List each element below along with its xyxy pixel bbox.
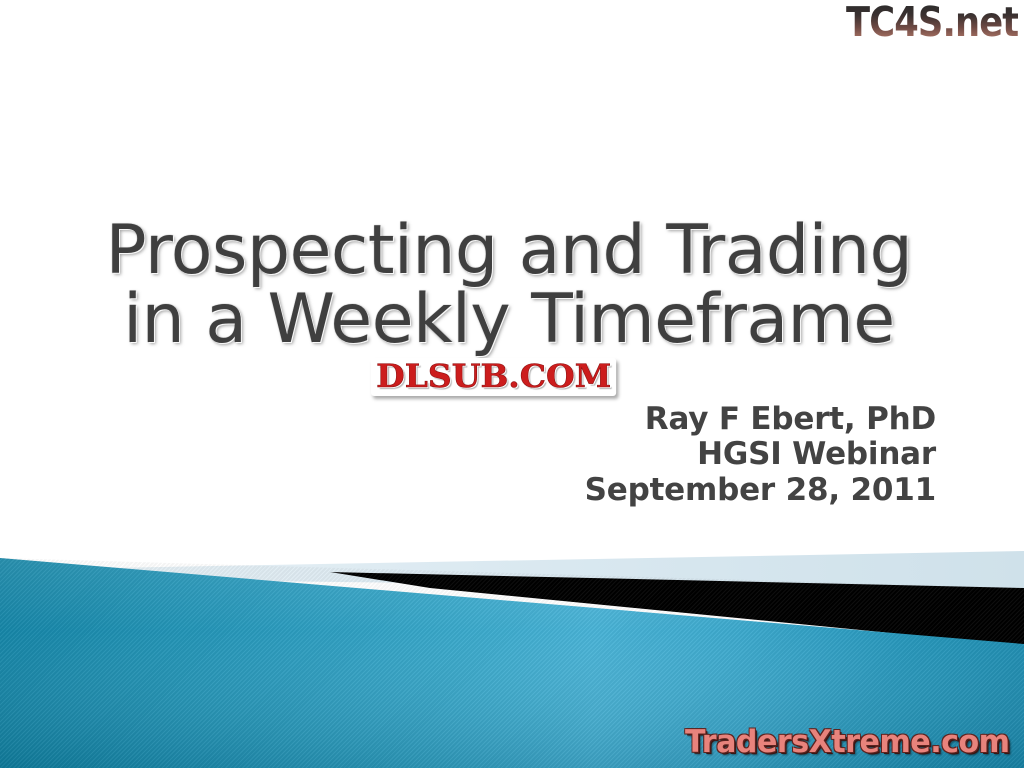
subtitle-line-event: HGSI Webinar bbox=[585, 437, 936, 472]
banner-black-wedge bbox=[330, 572, 1024, 646]
title-line-1: Prospecting and Trading bbox=[0, 216, 1018, 285]
presentation-slide: TC4S.net Prospecting and Trading in a We… bbox=[0, 0, 1024, 768]
banner-pale-wedge bbox=[0, 551, 1024, 590]
slide-title: Prospecting and Trading in a Weekly Time… bbox=[0, 216, 1018, 355]
subtitle-line-presenter: Ray F Ebert, PhD bbox=[585, 402, 936, 437]
subtitle-line-date: September 28, 2011 bbox=[585, 473, 936, 508]
title-line-2: in a Weekly Timeframe bbox=[0, 285, 1018, 354]
slide-subtitle: Ray F Ebert, PhD HGSI Webinar September … bbox=[585, 402, 936, 508]
tc4s-watermark: TC4S.net bbox=[846, 2, 1018, 43]
dlsub-watermark: DLSUB.COM bbox=[371, 358, 616, 396]
tradersxtreme-watermark: TradersXtreme.com bbox=[686, 727, 1010, 758]
